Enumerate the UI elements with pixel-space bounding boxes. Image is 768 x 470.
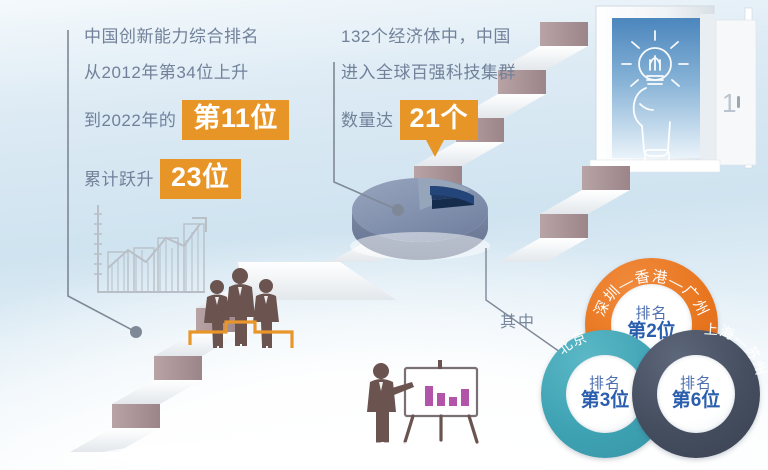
connector-dots <box>130 204 404 338</box>
callout-right-line-3: 数量达 21个 <box>341 100 516 140</box>
count-badge-21: 21个 <box>400 100 479 140</box>
ring-c-rank-value: 第6位 <box>672 391 721 412</box>
ring-c-hub: 排名 第6位 <box>657 355 735 433</box>
callout-right-line-2: 进入全球百强科技集群 <box>341 64 516 81</box>
callout-left-line-2: 从2012年第34位上升 <box>84 64 289 81</box>
pie-chart-illustration <box>350 178 490 260</box>
callout-left-text-2: 从2012年第34位上升 <box>84 64 249 81</box>
growth-chart-illustration <box>94 205 206 292</box>
connector-label: 其中 <box>500 308 536 332</box>
presenter-illustration <box>335 360 477 454</box>
callout-left-text-3: 到2022年的 <box>84 112 176 129</box>
callout-right-text-1: 132个经济体中，中国 <box>341 28 511 45</box>
callout-left-line-3: 到2022年的 第11位 <box>84 100 289 140</box>
svg-text:1: 1 <box>722 88 736 118</box>
ring-a-rank-label: 排名 <box>635 306 667 322</box>
ring-b-arc-label: 北京 <box>554 329 589 358</box>
callout-left-text-1: 中国创新能力综合排名 <box>84 28 259 45</box>
callout-right: 132个经济体中，中国 进入全球百强科技集群 数量达 21个 <box>341 28 516 159</box>
callout-left-text-4: 累计跃升 <box>84 171 154 188</box>
infographic-canvas: 1 <box>0 0 768 470</box>
callout-left-line-4: 累计跃升 23位 <box>84 159 289 199</box>
ring-b-rank-value: 第3位 <box>581 391 630 412</box>
callout-left: 中国创新能力综合排名 从2012年第34位上升 到2022年的 第11位 累计跃… <box>84 28 289 218</box>
pie-exploded-slice <box>430 186 474 209</box>
rank-badge-11: 第11位 <box>182 100 289 140</box>
callout-right-text-2: 进入全球百强科技集群 <box>341 64 516 81</box>
callout-right-text-3: 数量达 <box>341 112 394 129</box>
rank-badge-23: 23位 <box>160 159 241 199</box>
doorway-illustration: 1 <box>590 6 756 172</box>
callout-left-line-1: 中国创新能力综合排名 <box>84 28 289 45</box>
podium-figures-illustration <box>190 268 292 348</box>
svg-text:北京: 北京 <box>554 329 589 358</box>
ring-shanghai-suzhou: 上海—苏州 排名 第6位 <box>632 330 760 458</box>
callout-right-line-1: 132个经济体中，中国 <box>341 28 516 45</box>
